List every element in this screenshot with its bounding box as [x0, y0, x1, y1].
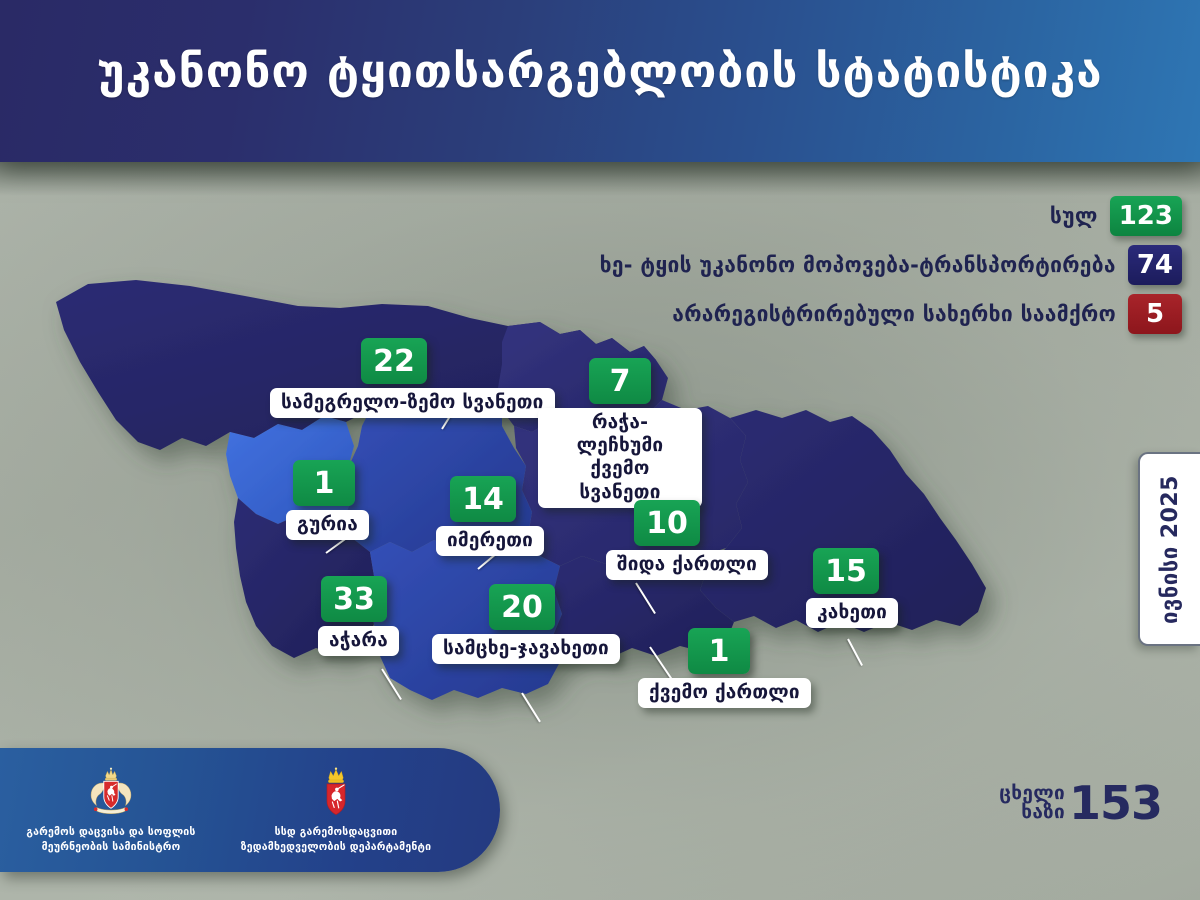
legend-row: არარეგისტრირებული სახერხი საამქრო 5 [600, 294, 1182, 334]
region-name-label: კახეთი [806, 598, 898, 628]
footer-bar: გარემოს დაცვისა და სოფლის მეურნეობის სამ… [0, 748, 500, 872]
legend-value-total: 123 [1110, 196, 1182, 236]
callout-imereti[interactable]: 14 იმერეთი [434, 476, 544, 556]
legend-row: ხე- ტყის უკანონო მოპოვება-ტრანსპორტირება… [600, 245, 1182, 285]
legend-label-total: სულ [1050, 204, 1098, 228]
organization-ministry-label: გარემოს დაცვისა და სოფლის მეურნეობის სამ… [26, 825, 195, 853]
infographic-root: უკანონო ტყითსარგებლობის სტატისტიკა სულ 1… [0, 0, 1200, 900]
region-name-label: სამეგრელო-ზემო სვანეთი [270, 388, 555, 418]
region-value-badge: 10 [634, 500, 700, 546]
callout-samegrelo-zemo-svaneti[interactable]: 22 სამეგრელო-ზემო სვანეთი [270, 338, 555, 418]
region-name-label: სამცხე-ჯავახეთი [432, 634, 620, 664]
legend-label-sawmill: არარეგისტრირებული სახერხი საამქრო [672, 302, 1116, 326]
region-name-label: შიდა ქართლი [606, 550, 768, 580]
region-name-label: რაჭა-ლეჩხუმი ქვემო სვანეთი [538, 408, 702, 508]
region-name-label: გურია [286, 510, 369, 540]
region-value-badge: 1 [293, 460, 355, 506]
coat-of-arms-ministry-icon [84, 766, 138, 820]
callout-kakheti[interactable]: 15 კახეთი [800, 548, 898, 628]
callout-samtskhe-javakheti[interactable]: 20 სამცხე-ჯავახეთი [432, 584, 620, 664]
region-name-label: აჭარა [318, 626, 399, 656]
organization-department-label: სსდ გარემოსდაცვითი ზედამხედველობის დეპარ… [241, 825, 431, 853]
legend-value-transport: 74 [1128, 245, 1182, 285]
region-value-badge: 15 [813, 548, 879, 594]
coat-of-arms-department-icon [309, 766, 363, 820]
organization-ministry: გარემოს დაცვისა და სოფლის მეურნეობის სამ… [6, 766, 216, 853]
date-tab[interactable]: ივნისი 2025 [1138, 452, 1200, 646]
hotline-label: ცხელი ხაზი [999, 784, 1065, 823]
region-value-badge: 20 [489, 584, 555, 630]
region-value-badge: 33 [321, 576, 387, 622]
hotline: ცხელი ხაზი 153 [999, 782, 1162, 824]
header-banner: უკანონო ტყითსარგებლობის სტატისტიკა [0, 0, 1200, 162]
legend: სულ 123 ხე- ტყის უკანონო მოპოვება-ტრანსპ… [600, 196, 1182, 343]
callout-kvemo-kartli[interactable]: 1 ქვემო ქართლი [638, 628, 811, 708]
organization-department: სსდ გარემოსდაცვითი ზედამხედველობის დეპარ… [216, 766, 456, 853]
region-name-label: იმერეთი [436, 526, 544, 556]
legend-row: სულ 123 [600, 196, 1182, 236]
page-title: უკანონო ტყითსარგებლობის სტატისტიკა [0, 44, 1200, 98]
hotline-number: 153 [1069, 782, 1162, 824]
region-value-badge: 14 [450, 476, 516, 522]
legend-value-sawmill: 5 [1128, 294, 1182, 334]
region-value-badge: 22 [361, 338, 427, 384]
date-label: ივნისი 2025 [1158, 475, 1183, 624]
callout-shida-kartli[interactable]: 10 შიდა ქართლი [606, 500, 768, 580]
callout-adjara[interactable]: 33 აჭარა [308, 576, 400, 656]
region-name-label: ქვემო ქართლი [638, 678, 811, 708]
callout-guria[interactable]: 1 გურია [278, 460, 370, 540]
callout-racha-lechkhumi[interactable]: 7 რაჭა-ლეჩხუმი ქვემო სვანეთი [538, 358, 702, 508]
region-value-badge: 1 [688, 628, 750, 674]
legend-label-transport: ხე- ტყის უკანონო მოპოვება-ტრანსპორტირება [600, 253, 1116, 277]
region-value-badge: 7 [589, 358, 651, 404]
